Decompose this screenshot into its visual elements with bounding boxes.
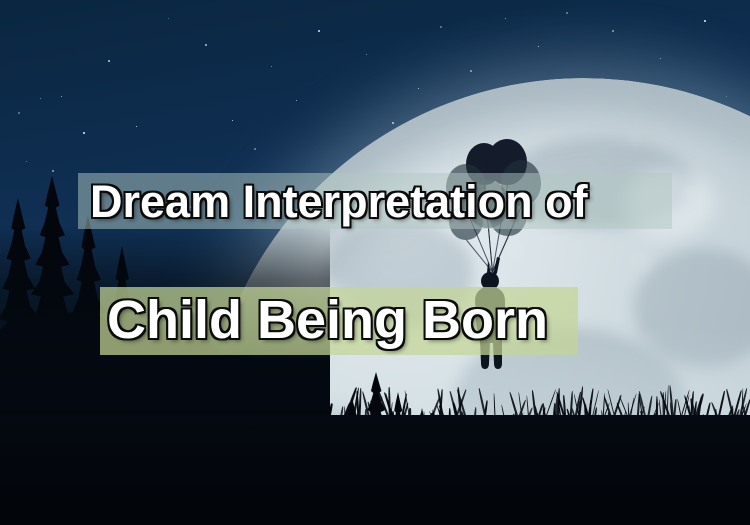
headline-line-1: Dream Interpretation of <box>90 176 588 228</box>
foreground-ground <box>0 415 750 525</box>
dream-interpretation-banner: Dream Interpretation of Child Being Born <box>0 0 750 525</box>
headline-line-2: Child Being Born <box>107 288 548 352</box>
